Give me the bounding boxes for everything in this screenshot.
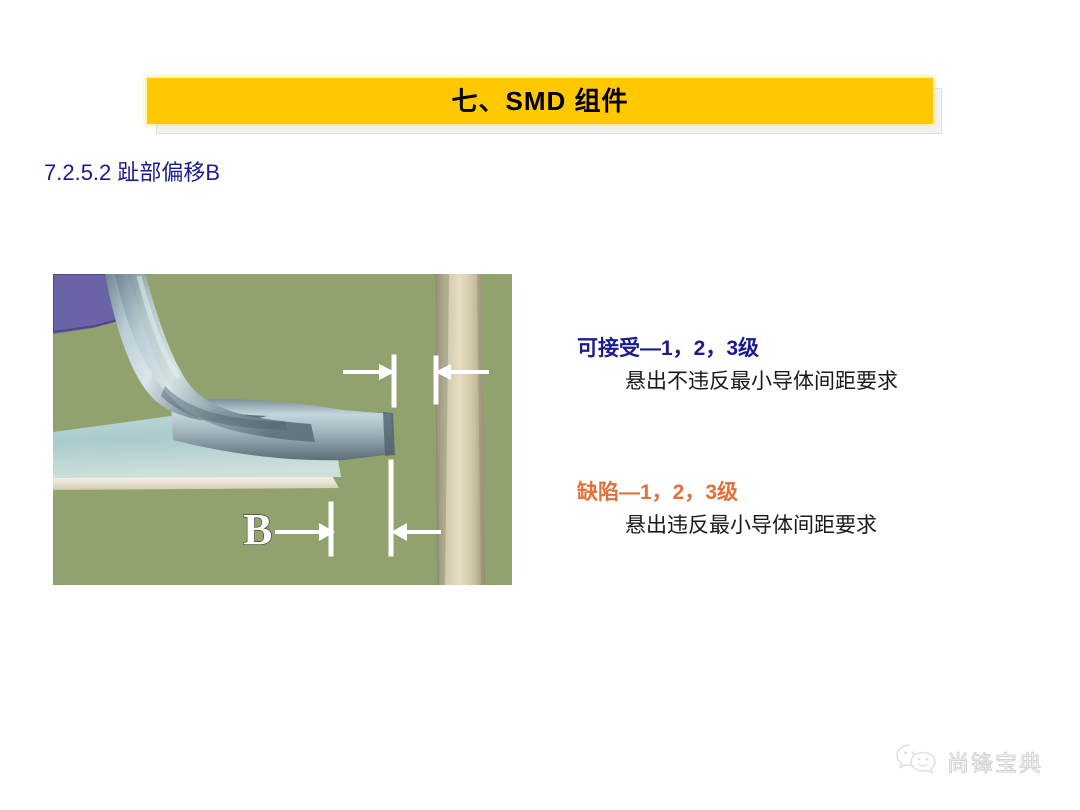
reference-photo: B: [53, 274, 512, 585]
section-subtitle: 7.2.5.2 趾部偏移B: [44, 155, 220, 187]
watermark: 尚锋宝典: [895, 742, 1043, 781]
defect-description: 悬出违反最小导体间距要求: [625, 512, 877, 539]
dimension-label-b: B: [243, 505, 272, 554]
acceptable-description: 悬出不违反最小导体间距要求: [625, 368, 898, 395]
page-title: 七、SMD 组件: [451, 88, 628, 114]
photo-illustration: B: [53, 274, 512, 585]
defect-criteria-block: 缺陷—1，2，3级 悬出违反最小导体间距要求: [577, 480, 877, 540]
wechat-icon: [895, 742, 937, 781]
defect-heading: 缺陷—1，2，3级: [577, 480, 877, 506]
title-banner-container: 七、SMD 组件: [147, 78, 933, 124]
watermark-text: 尚锋宝典: [947, 746, 1043, 778]
extension-line-conductor: [434, 356, 438, 404]
acceptable-heading: 可接受—1，2，3级: [577, 336, 898, 362]
acceptable-criteria-block: 可接受—1，2，3级 悬出不违反最小导体间距要求: [577, 336, 898, 396]
extension-line-toe: [392, 355, 396, 407]
extension-line-b-left: [389, 460, 393, 556]
title-banner: 七、SMD 组件: [147, 78, 933, 124]
